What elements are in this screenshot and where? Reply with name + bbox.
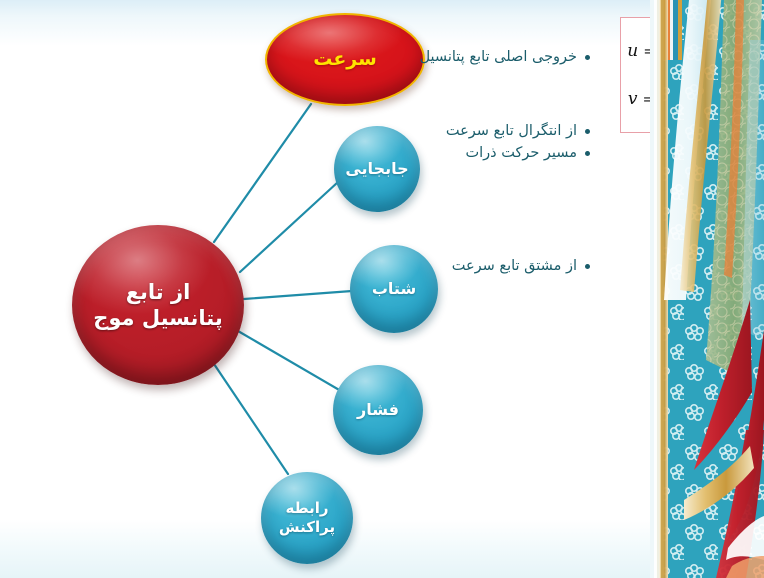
- connector-central-to-acceleration: [244, 291, 352, 299]
- bullet-label: مسیر حرکت ذرات: [420, 142, 577, 164]
- bullet-dot-icon: [585, 55, 590, 60]
- bullet-item: از مشتق تابع سرعت: [430, 255, 590, 277]
- bullet-label: خروجی اصلی تابع پتانسیل: [400, 46, 577, 68]
- bullet-item: مسیر حرکت ذرات: [420, 142, 590, 164]
- bullet-block-velocity: خروجی اصلی تابع پتانسیل: [400, 46, 590, 68]
- node-dispersion-label: رابطه پراکنش: [279, 499, 335, 538]
- connector-central-to-displacement: [240, 182, 338, 272]
- bullet-block-displacement: از انتگرال تابع سرعت مسیر حرکت ذرات: [420, 120, 590, 165]
- bullet-label: از انتگرال تابع سرعت: [420, 120, 577, 142]
- node-pressure-label: فشار: [357, 400, 399, 420]
- bullet-label: از مشتق تابع سرعت: [430, 255, 577, 277]
- node-velocity-label: سرعت: [313, 48, 377, 72]
- node-central-wave-potential[interactable]: از تابع پتانسیل موج: [72, 225, 244, 385]
- node-pressure[interactable]: فشار: [333, 365, 423, 455]
- node-displacement[interactable]: جابجایی: [334, 126, 420, 212]
- bullet-block-acceleration: از مشتق تابع سرعت: [430, 255, 590, 277]
- bullet-dot-icon: [585, 151, 590, 156]
- node-dispersion-line1: رابطه: [279, 499, 335, 519]
- floral-border-icon: [650, 0, 764, 578]
- equation-v-lhs: v: [628, 89, 638, 109]
- node-acceleration-label: شتاب: [372, 279, 416, 299]
- node-central-line1: از تابع: [93, 279, 223, 305]
- decorative-border-panel: [650, 0, 764, 578]
- node-central-line2: پتانسیل موج: [93, 305, 223, 331]
- connector-central-to-dispersion: [214, 364, 288, 474]
- bullet-dot-icon: [585, 129, 590, 134]
- bullet-item: خروجی اصلی تابع پتانسیل: [400, 46, 590, 68]
- slide-canvas: از تابع پتانسیل موج سرعت جابجایی شتاب فش…: [0, 0, 764, 578]
- node-central-label: از تابع پتانسیل موج: [83, 279, 233, 332]
- node-acceleration[interactable]: شتاب: [350, 245, 438, 333]
- equation-u-lhs: u: [627, 41, 638, 61]
- bullet-dot-icon: [585, 264, 590, 269]
- node-displacement-label: جابجایی: [345, 159, 408, 179]
- connector-central-to-velocity: [214, 104, 311, 242]
- bullet-item: از انتگرال تابع سرعت: [420, 120, 590, 142]
- node-dispersion[interactable]: رابطه پراکنش: [261, 472, 353, 564]
- node-dispersion-line2: پراکنش: [279, 518, 335, 538]
- connector-central-to-pressure: [238, 331, 341, 391]
